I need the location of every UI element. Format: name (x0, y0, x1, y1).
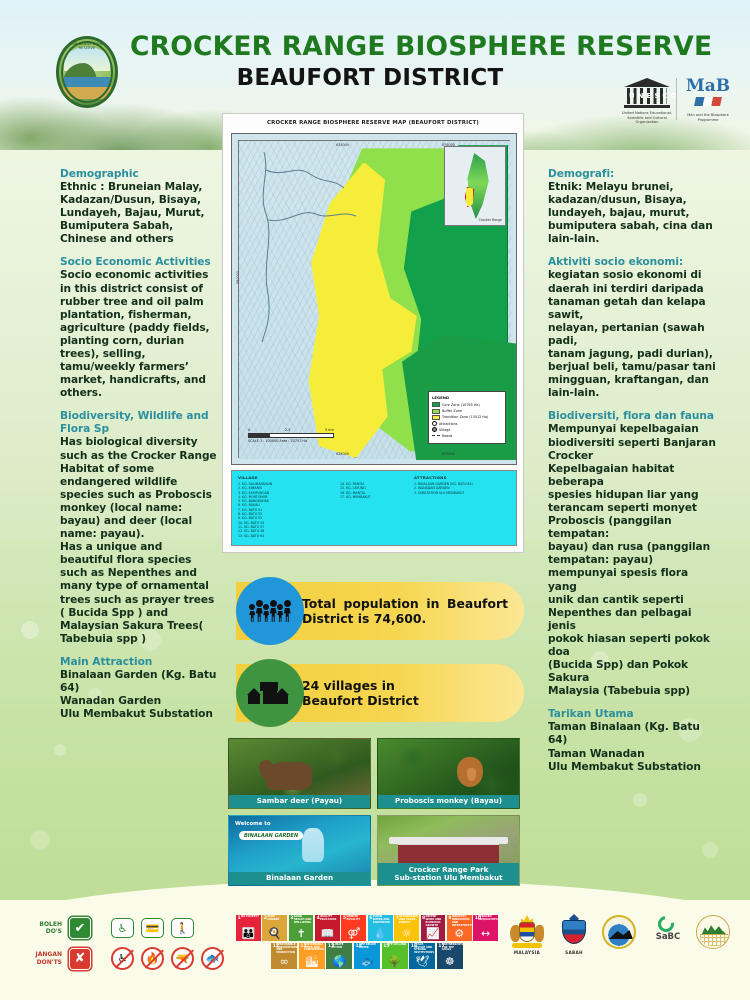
no-open-fire-icon: 🔥 (141, 947, 164, 970)
photo-binalaan-garden[interactable]: Welcome to BINALAAN GARDEN Binalaan Gard… (228, 815, 371, 886)
sdg-goal-4: 4 QUALITY EDUCATION 📖 (315, 915, 340, 941)
logo-caption: SABAH (555, 950, 593, 955)
scale-tick-1: 2.5 (285, 428, 291, 432)
map-card[interactable]: CROCKER RANGE BIOSPHERE RESERVE MAP (BEA… (222, 113, 524, 553)
legend-item-roads: Roads (432, 434, 502, 438)
sdg-goal-9: 9 INDUSTRY, INNOVATION AND INFRASTRUCTUR… (447, 915, 472, 941)
section-body: Socio economic activities in this distri… (60, 269, 228, 400)
logo-sabah-parks (602, 915, 640, 949)
legend-item-core-zone: Core Zone (10765 Ha) (432, 402, 502, 407)
logo-sabc: SaBC (649, 915, 687, 949)
village-column-1: VILLAGE 1. KG. SALIMANDAUN 2. KG. KIMANI… (238, 475, 330, 541)
right-text-column: Demografi: Etnik: Melayu brunei, kadazan… (548, 168, 716, 784)
village-list-2: 14. KG. PANTAI 15. KG. LAYUNG 16. KG. MA… (340, 482, 404, 499)
sdg-goal-10: 10 REDUCED INEQUALITIES ↔ (473, 915, 498, 941)
left-text-column: Demographic Ethnic : Bruneian Malay, Kad… (60, 168, 228, 731)
map-legend: LEGEND Core Zone (10765 Ha) Buffer Zone … (428, 391, 506, 444)
sdg-goals-panel: 1 NO POVERTY 👪 2 ZERO HUNGER 🍳 3 GOOD HE… (236, 915, 498, 970)
sdg-label: LIFE BELOW WATER (359, 944, 379, 950)
map-coord-bottom-left: 634000 (336, 452, 349, 456)
logo-forest-basket (696, 915, 734, 949)
legend-label: Village (439, 428, 450, 432)
donts-label: JANGAN DON'TS (18, 951, 62, 966)
scale-caption: SCALE 1 : 100000 Area : 23757 Ha (248, 439, 334, 444)
map-title: CROCKER RANGE BIOSPHERE RESERVE MAP (BEA… (223, 114, 523, 130)
scale-tick-0: 0 (248, 428, 250, 432)
sdg-label: ZERO HUNGER (267, 916, 286, 922)
legend-item-attractions: Attractions (432, 421, 502, 426)
legend-label: Attractions (439, 422, 458, 426)
photo-caption: Sambar deer (Payau) (229, 795, 370, 808)
hiking-trail-icon: 🚶 (171, 918, 194, 938)
sdg-glyph-icon: 🕊 (409, 956, 435, 967)
buffer-zone-swatch-icon (432, 409, 440, 414)
sdg-label: CLEAN WATER AND SANITATION (373, 916, 392, 925)
malaysia-coat-of-arms-icon (508, 915, 546, 949)
unesco-temple-icon: UNESCO (624, 78, 670, 108)
cross-mark-icon: ✘ (69, 948, 91, 970)
map-frame[interactable]: 634000 676000 634000 676000 590000 Crock… (231, 133, 517, 465)
village-marker-icon (432, 427, 437, 432)
sdg-glyph-icon: 🌎 (326, 956, 352, 967)
section-biodiversiti-flora-fauna: Biodiversiti, flora dan fauna Mempunyai … (548, 410, 716, 698)
sdg-glyph-icon: 📖 (315, 928, 340, 939)
crocker-range-crest-logo: CROCKER RANGE BIOSPHERE RESERVE (56, 36, 118, 108)
legend-label: Roads (442, 434, 452, 438)
sabc-logo-icon: SaBC (649, 915, 687, 949)
page-footer: BOLEH DO'S ✔ ♿ 💳 🚶 JANGAN DON'TS ✘ ♿ 🔥 🔫… (0, 905, 750, 1000)
sdg-glyph-icon: 🍳 (262, 928, 287, 939)
mab-mark-icon: MaB (682, 76, 734, 110)
legend-item-buffer-zone: Buffer Zone (432, 409, 502, 414)
legend-title: LEGEND (432, 395, 502, 400)
village-list-1: 1. KG. SALIMANDAUN 2. KG. KIMANIS 3. KG.… (238, 482, 330, 538)
village-column-2: . 14. KG. PANTAI 15. KG. LAYUNG 16. KG. … (340, 475, 404, 541)
legend-item-village: Village (432, 427, 502, 432)
mab-logo: MaB Man and the Biosphere Programme (682, 76, 734, 122)
sdg-glyph-icon: 🐟 (354, 956, 380, 967)
section-heading: Demographic (60, 168, 228, 181)
sdg-goal-12: 12 RESPONSIBLE CONSUMPTION AND PRODUCTIO… (271, 943, 297, 969)
section-heading: Biodiversiti, flora dan fauna (548, 410, 716, 423)
sdg-goal-6: 6 CLEAN WATER AND SANITATION 💧 (368, 915, 393, 941)
section-heading: Socio Economic Activities (60, 256, 228, 269)
photo-caption: Proboscis monkey (Bayau) (378, 795, 519, 808)
section-body: Mempunyai kepelbagaian biodiversiti sepe… (548, 423, 716, 698)
title-line-1: CROCKER RANGE BIOSPHERE RESERVE (130, 30, 610, 64)
inset-caption: Crocker Range (479, 218, 502, 222)
sdg-label: PARTNERSHIPS FOR THE GOALS (442, 944, 462, 953)
sabc-wordmark: SaBC (649, 932, 687, 942)
sdg-label: REDUCED INEQUALITIES (478, 916, 497, 922)
photo-overlay-welcome: Welcome to (235, 821, 271, 827)
sdg-glyph-icon: ☼ (394, 928, 419, 939)
rules-panel: BOLEH DO'S ✔ ♿ 💳 🚶 JANGAN DON'TS ✘ ♿ 🔥 🔫… (18, 917, 228, 978)
footer-logos: MALAYSIA SABAH SaBC (508, 915, 740, 955)
photo-caption: Binalaan Garden (229, 872, 370, 885)
sdg-glyph-icon: ⚙ (447, 928, 472, 939)
sdg-label: AFFORDABLE AND CLEAN ENERGY (399, 916, 418, 925)
sdg-goal-8: 8 DECENT WORK AND ECONOMIC GROWTH 📈 (421, 915, 446, 941)
section-heading: Demografi: (548, 168, 716, 181)
map-coord-top-left: 634000 (336, 143, 349, 147)
sdg-label: GOOD HEALTH AND WELL-BEING (294, 916, 313, 925)
sdg-glyph-icon: 👪 (236, 928, 261, 939)
sabah-coat-of-arms-icon (555, 915, 593, 949)
transition-zone-swatch-icon (432, 415, 440, 420)
section-body: kegiatan sosio ekonomi di daerah ini ter… (548, 269, 716, 400)
stat-total-population: Total population in Beaufort District is… (236, 582, 524, 640)
sdg-goal-2: 2 ZERO HUNGER 🍳 (262, 915, 287, 941)
check-mark-icon: ✔ (69, 917, 91, 939)
photo-gallery: Sambar deer (Payau) Proboscis monkey (Ba… (228, 738, 520, 886)
litter-in-bin-icon: ♿ (111, 918, 134, 938)
photo-sambar-deer[interactable]: Sambar deer (Payau) (228, 738, 371, 809)
section-biodiversity-wildlife-flora: Biodiversity, Wildlife and Flora Sp Has … (60, 410, 228, 646)
sdg-label: PEACE, JUSTICE AND STRONG INSTITUTIONS (414, 944, 434, 956)
map-scale-bar: 0 2.5 5 km SCALE 1 : 100000 Area : 23757… (248, 428, 334, 444)
section-heading: Tarikan Utama (548, 708, 716, 721)
attractions-column: ATTRACTIONS 1. BINALAAN GARDEN (KG. BATU… (414, 475, 524, 541)
photo-caption: Crocker Range Park Sub-station Ulu Memba… (378, 863, 519, 885)
sdg-label: GENDER EQUALITY (346, 916, 365, 922)
photo-overlay-sign: BINALAAN GARDEN (239, 831, 303, 840)
section-heading: Biodiversity, Wildlife and Flora Sp (60, 410, 228, 436)
unesco-wordmark: UNESCO (629, 92, 679, 100)
stat-text: Total population in Beaufort District is… (302, 596, 508, 626)
sdg-glyph-icon: ↔ (473, 928, 498, 939)
road-line-icon (432, 435, 440, 436)
no-fishing-icon: 🐟 (201, 947, 224, 970)
attractions-header: ATTRACTIONS (414, 475, 524, 480)
legend-label: Transition Zone (13012 Ha) (442, 415, 488, 419)
sdg-goal-16: 16 PEACE, JUSTICE AND STRONG INSTITUTION… (409, 943, 435, 969)
sdg-goal-17: 17 PARTNERSHIPS FOR THE GOALS ☸ (437, 943, 463, 969)
title-line-2: BEAUFORT DISTRICT (130, 64, 610, 92)
legend-label: Core Zone (10765 Ha) (442, 403, 480, 407)
photo-proboscis-monkey[interactable]: Proboscis monkey (Bayau) (377, 738, 520, 809)
sdg-label: CLIMATE ACTION (331, 944, 351, 950)
forest-basket-logo-icon (696, 915, 730, 949)
no-hunting-icon: 🔫 (171, 947, 194, 970)
stat-village-count: 24 villages in Beaufort District (236, 664, 524, 722)
section-body: Etnik: Melayu brunei, kadazan/dusun, Bis… (548, 181, 716, 246)
map-rivers (244, 144, 364, 344)
section-socio-economic-activities: Socio Economic Activities Socio economic… (60, 256, 228, 400)
core-zone-swatch-icon (432, 402, 440, 407)
section-heading: Aktiviti socio ekonomi: (548, 256, 716, 269)
mab-flag-icon (694, 97, 722, 106)
unesco-caption: United Nations Educational, Scientific a… (618, 111, 676, 125)
section-demographic: Demographic Ethnic : Bruneian Malay, Kad… (60, 168, 228, 246)
sdg-row-1: 1 NO POVERTY 👪 2 ZERO HUNGER 🍳 3 GOOD HE… (236, 915, 498, 941)
sdg-glyph-icon: ☸ (437, 956, 463, 967)
legend-item-transition-zone: Transition Zone (13012 Ha) (432, 415, 502, 420)
people-group-icon (236, 577, 304, 645)
section-body: Taman Binalaan (Kg. Batu 64) Taman Wanad… (548, 721, 716, 773)
sdg-glyph-icon: ⚤ (341, 928, 366, 939)
sdg-goal-14: 14 LIFE BELOW WATER 🐟 (354, 943, 380, 969)
sdg-goal-1: 1 NO POVERTY 👪 (236, 915, 261, 941)
houses-icon (236, 659, 304, 727)
sdg-goal-13: 13 CLIMATE ACTION 🌎 (326, 943, 352, 969)
sdg-goal-11: 11 SUSTAINABLE CITIES AND COMMUNITIES 🏙 (299, 943, 325, 969)
map-coord-bottom-right: 676000 (442, 452, 455, 456)
section-main-attraction: Main Attraction Binalaan Garden (Kg. Bat… (60, 656, 228, 721)
section-heading: Main Attraction (60, 656, 228, 669)
sdg-label: SUSTAINABLE CITIES AND COMMUNITIES (304, 944, 324, 953)
donts-row: JANGAN DON'TS ✘ ♿ 🔥 🔫 🐟 (18, 947, 228, 970)
sdg-row-2: 12 RESPONSIBLE CONSUMPTION AND PRODUCTIO… (236, 943, 498, 969)
attractions-list: 1. BINALAAN GARDEN (KG. BATU 64) 2. WANA… (414, 482, 524, 495)
sdg-glyph-icon: 🌳 (382, 956, 408, 967)
mab-wordmark: MaB (682, 76, 734, 96)
sdg-glyph-icon: 📈 (421, 928, 446, 939)
sdg-glyph-icon: ✝ (289, 928, 314, 939)
map-inset-locator: Crocker Range (444, 146, 506, 226)
pay-fee-icon: 💳 (141, 918, 164, 938)
sdg-label: DECENT WORK AND ECONOMIC GROWTH (426, 916, 445, 928)
logo-malaysia: MALAYSIA (508, 915, 546, 955)
unesco-logo: UNESCO United Nations Educational, Scien… (618, 78, 676, 125)
page-title: CROCKER RANGE BIOSPHERE RESERVE BEAUFORT… (130, 30, 610, 92)
mab-caption: Man and the Biosphere Programme (682, 113, 734, 122)
logo-divider (676, 78, 677, 120)
sdg-label: QUALITY EDUCATION (320, 916, 339, 922)
section-aktiviti-socio-ekonomi: Aktiviti socio ekonomi: kegiatan sosio e… (548, 256, 716, 400)
page-header: CROCKER RANGE BIOSPHERE RESERVE CROCKER … (0, 30, 750, 115)
scale-tick-2: 5 km (325, 428, 334, 432)
village-attraction-table: VILLAGE 1. KG. SALIMANDAUN 2. KG. KIMANI… (231, 470, 517, 546)
section-body: Binalaan Garden (Kg. Batu 64) Wanadan Ga… (60, 669, 228, 721)
sdg-goal-5: 5 GENDER EQUALITY ⚤ (341, 915, 366, 941)
photo-crocker-range-park-substation[interactable]: Crocker Range Park Sub-station Ulu Memba… (377, 815, 520, 886)
sdg-label: INDUSTRY, INNOVATION AND INFRASTRUCTURE (452, 916, 471, 928)
poster-root: CROCKER RANGE BIOSPHERE RESERVE CROCKER … (0, 0, 750, 1000)
legend-label: Buffer Zone (442, 409, 462, 413)
village-header: VILLAGE (238, 475, 330, 480)
attraction-marker-icon (432, 421, 437, 426)
sdg-label: LIFE ON LAND (387, 944, 407, 947)
logo-sabah: SABAH (555, 915, 593, 955)
sdg-goal-7: 7 AFFORDABLE AND CLEAN ENERGY ☼ (394, 915, 419, 941)
dos-row: BOLEH DO'S ✔ ♿ 💳 🚶 (18, 917, 228, 939)
sdg-glyph-icon: 💧 (368, 928, 393, 939)
no-littering-icon: ♿ (111, 947, 134, 970)
sdg-label: NO POVERTY (241, 916, 260, 919)
sdg-label: RESPONSIBLE CONSUMPTION AND PRODUCTION (276, 944, 296, 956)
section-body: Has biological diversity such as the Cro… (60, 436, 228, 646)
stat-text: 24 villages in Beaufort District (302, 678, 419, 708)
sdg-glyph-icon: ∞ (271, 956, 297, 967)
crest-text: CROCKER RANGE BIOSPHERE RESERVE (59, 42, 115, 50)
logo-caption: MALAYSIA (508, 950, 546, 955)
sabah-parks-logo-icon (602, 915, 636, 949)
map-coord-left-axis: 590000 (236, 271, 240, 284)
section-demografi: Demografi: Etnik: Melayu brunei, kadazan… (548, 168, 716, 246)
section-tarikan-utama: Tarikan Utama Taman Binalaan (Kg. Batu 6… (548, 708, 716, 773)
dos-label: BOLEH DO'S (18, 921, 62, 936)
sdg-glyph-icon: 🏙 (299, 956, 325, 967)
section-body: Ethnic : Bruneian Malay, Kadazan/Dusun, … (60, 181, 228, 246)
sdg-goal-15: 15 LIFE ON LAND 🌳 (382, 943, 408, 969)
sdg-goal-3: 3 GOOD HEALTH AND WELL-BEING ✝ (289, 915, 314, 941)
